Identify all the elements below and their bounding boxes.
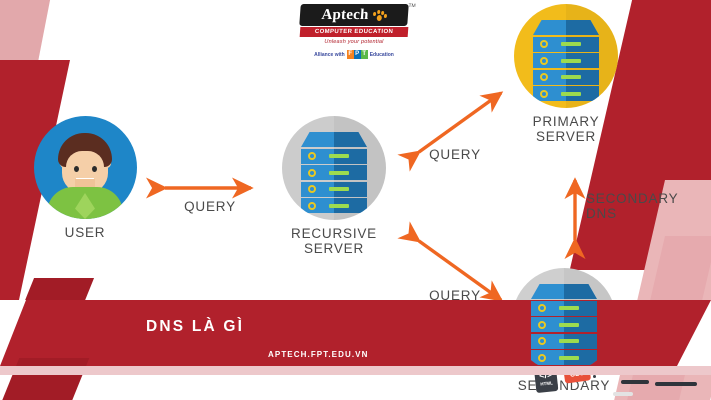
fpt-letter-p: P <box>354 50 361 59</box>
server-rack-icon <box>514 4 618 108</box>
banner-website-url: APTECH.FPT.EDU.VN <box>268 350 369 359</box>
node-primary-server-label: PRIMARY SERVER <box>510 114 622 144</box>
slide-canvas: Aptech TM COMPUTER EDUCATION Unleash you… <box>0 0 711 400</box>
server-rack-icon <box>282 116 386 220</box>
alliance-suffix-text: Education <box>370 52 394 58</box>
node-recursive-server-label: RECURSIVE SERVER <box>278 226 390 256</box>
logo-wordmark-plate: Aptech TM <box>299 4 409 26</box>
fpt-logo-icon: F P T <box>347 50 368 59</box>
banner-underline <box>0 366 711 375</box>
node-user-label: USER <box>30 225 140 240</box>
html-chip-label: HTML <box>535 380 557 387</box>
logo-brand-text: Aptech <box>321 7 369 24</box>
arrow-label-primary-secondary: SECONDARY DNS <box>586 191 706 221</box>
logo-tagline: Unleash your potential <box>300 39 408 45</box>
node-primary-server: PRIMARY SERVER <box>510 4 622 144</box>
aptech-logo: Aptech TM COMPUTER EDUCATION Unleash you… <box>300 4 408 59</box>
banner-notch-right <box>677 300 711 366</box>
arrow-user-recursive <box>155 175 265 201</box>
arrow-label-recursive-primary: QUERY <box>400 147 510 162</box>
banner-notch-left <box>0 300 26 366</box>
arrow-label-user-recursive: QUERY <box>155 199 265 214</box>
banner-title: DNS LÀ GÌ <box>146 318 244 336</box>
user-avatar-icon <box>34 116 137 219</box>
node-user: USER <box>30 116 140 240</box>
fpt-letter-t: T <box>361 50 368 59</box>
fpt-letter-f: F <box>347 50 354 59</box>
logo-subtitle: COMPUTER EDUCATION <box>300 27 409 37</box>
logo-trademark-text: TM <box>408 3 416 9</box>
paw-print-icon <box>372 10 387 22</box>
alliance-prefix-text: Alliance with <box>314 52 345 58</box>
node-recursive-server: RECURSIVE SERVER <box>278 116 390 256</box>
logo-alliance-line: Alliance with F P T Education <box>300 50 408 59</box>
